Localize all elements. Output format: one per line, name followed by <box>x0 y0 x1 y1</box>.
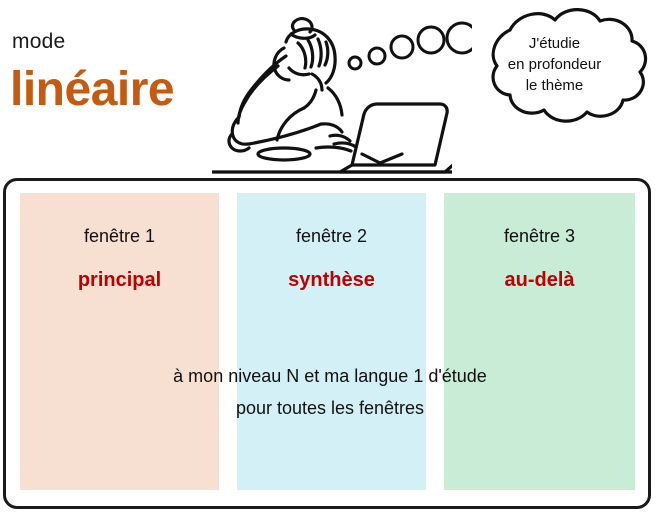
window-column-3-keyword: au-delà <box>444 268 635 292</box>
window-column-2-keyword: synthèse <box>237 268 426 292</box>
thought-line-3: le thème <box>526 77 584 94</box>
window-column-1-heading: fenêtre 1 <box>20 225 219 247</box>
panel-footnote-line-2: pour toutes les fenêtres <box>28 392 632 424</box>
header-region: mode linéaire <box>0 0 659 178</box>
thought-line-2: en profondeur <box>508 56 601 73</box>
window-column-2-heading: fenêtre 2 <box>237 225 426 247</box>
panel-footnote: à mon niveau N et ma langue 1 d'étude po… <box>28 360 632 424</box>
window-column-1-keyword: principal <box>20 268 219 292</box>
mode-title: linéaire <box>10 62 174 118</box>
thought-cloud-text: J'étudie en profondeur le thème <box>472 33 637 96</box>
window-column-3-heading: fenêtre 3 <box>444 225 635 247</box>
thought-line-1: J'étudie <box>529 35 580 52</box>
panel-footnote-line-1: à mon niveau N et ma langue 1 d'étude <box>28 360 632 392</box>
mode-label: mode <box>12 30 65 54</box>
